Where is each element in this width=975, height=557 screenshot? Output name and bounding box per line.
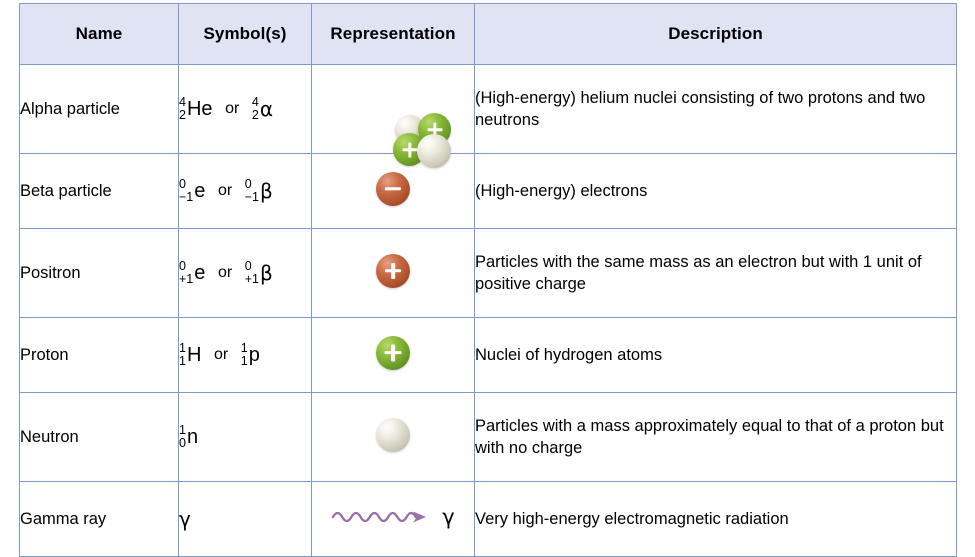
particle-name: Gamma ray: [20, 482, 179, 557]
particle-representation: [312, 65, 475, 154]
particle-table-container: Name Symbol(s) Representation Descriptio…: [19, 3, 956, 521]
neutron-sphere-icon: [417, 134, 451, 168]
radioactive-particles-table: Name Symbol(s) Representation Descriptio…: [19, 3, 957, 557]
mass-charge-index: 4 2: [179, 96, 186, 122]
element-symbol: α: [260, 97, 273, 121]
mass-charge-index: 1 0: [179, 424, 186, 450]
plus-sphere-icon: [376, 254, 410, 288]
table-row: Beta particle 0 −1 e or 0 −1 β: [20, 154, 957, 229]
neutron-sphere-icon: [376, 418, 410, 452]
particle-description: Nuclei of hydrogen atoms: [475, 318, 957, 393]
particle-representation: [312, 229, 475, 318]
particle-description: Particles with the same mass as an elect…: [475, 229, 957, 318]
nuclide-notation-primary: 4 2 He: [179, 96, 213, 122]
particle-name: Neutron: [20, 393, 179, 482]
table-row: Neutron 1 0 n Particles with a mass appr…: [20, 393, 957, 482]
nuclide-notation-secondary: 0 +1 β: [245, 260, 273, 286]
particle-description: (High-energy) helium nuclei consisting o…: [475, 65, 957, 154]
particle-symbol: 4 2 He or 4 2 α: [179, 65, 312, 154]
particle-name: Alpha particle: [20, 65, 179, 154]
proton-sphere-icon: [376, 336, 410, 370]
column-header-symbol: Symbol(s): [179, 4, 312, 65]
particle-name: Positron: [20, 229, 179, 318]
plus-sphere-icon: [376, 336, 410, 370]
symbol-conjunction: or: [207, 346, 235, 363]
particle-symbol: 0 −1 e or 0 −1 β: [179, 154, 312, 229]
particle-name: Proton: [20, 318, 179, 393]
table-row: Positron 0 +1 e or 0 +1 β: [20, 229, 957, 318]
particle-symbol: γ: [179, 482, 312, 557]
electron-sphere-icon: [376, 172, 410, 206]
element-symbol: He: [187, 98, 213, 121]
particle-name: Beta particle: [20, 154, 179, 229]
particle-symbol: 0 +1 e or 0 +1 β: [179, 229, 312, 318]
particle-representation: γ: [312, 482, 475, 557]
particle-symbol: 1 1 H or 1 1 p: [179, 318, 312, 393]
mass-charge-index: 4 2: [252, 96, 259, 122]
minus-sphere-icon: [376, 172, 410, 206]
symbol-conjunction: or: [211, 182, 239, 199]
column-header-representation: Representation: [312, 4, 475, 65]
element-symbol: p: [249, 344, 260, 367]
particle-symbol: 1 0 n: [179, 393, 312, 482]
nuclide-notation-primary: 1 0 n: [179, 424, 198, 450]
table-row: Gamma ray γ γ Very high-energy electroma…: [20, 482, 957, 557]
particle-representation: [312, 318, 475, 393]
mass-charge-index: 0 +1: [179, 260, 193, 286]
particle-description: Very high-energy electromagnetic radiati…: [475, 482, 957, 557]
nuclide-notation-secondary: 1 1 p: [241, 342, 260, 368]
mass-charge-index: 1 1: [241, 342, 248, 368]
neutral-sphere-icon: [376, 418, 410, 452]
mass-charge-index: 0 +1: [245, 260, 259, 286]
positron-sphere-icon: [376, 254, 410, 288]
element-symbol: γ: [179, 507, 191, 531]
mass-charge-index: 1 1: [179, 342, 186, 368]
nuclide-notation-primary: 0 −1 e: [179, 178, 205, 204]
gamma-label: γ: [442, 505, 454, 529]
table-header: Name Symbol(s) Representation Descriptio…: [20, 4, 957, 65]
nuclide-notation-secondary: 4 2 α: [252, 96, 273, 122]
column-header-name: Name: [20, 4, 179, 65]
element-symbol: e: [194, 262, 205, 285]
gamma-wave-arrow-icon: γ: [331, 504, 454, 530]
header-row: Name Symbol(s) Representation Descriptio…: [20, 4, 957, 65]
mass-charge-index: 0 −1: [245, 178, 259, 204]
element-symbol: e: [194, 180, 205, 203]
table-body: Alpha particle 4 2 He or 4 2 α: [20, 65, 957, 557]
element-symbol: H: [187, 344, 201, 367]
symbol-conjunction: or: [218, 100, 246, 117]
nuclide-notation-primary: 1 1 H: [179, 342, 201, 368]
column-header-description: Description: [475, 4, 957, 65]
particle-description: Particles with a mass approximately equa…: [475, 393, 957, 482]
symbol-conjunction: or: [211, 264, 239, 281]
element-symbol: n: [187, 426, 198, 449]
particle-representation: [312, 154, 475, 229]
table-row: Proton 1 1 H or 1 1 p: [20, 318, 957, 393]
element-symbol: β: [260, 261, 273, 285]
table-row: Alpha particle 4 2 He or 4 2 α: [20, 65, 957, 154]
particle-description: (High-energy) electrons: [475, 154, 957, 229]
nuclide-notation-primary: 0 +1 e: [179, 260, 205, 286]
nuclide-notation-secondary: 0 −1 β: [245, 178, 273, 204]
mass-charge-index: 0 −1: [179, 178, 193, 204]
wave-arrow-svg: [331, 504, 437, 530]
particle-representation: [312, 393, 475, 482]
element-symbol: β: [260, 179, 273, 203]
